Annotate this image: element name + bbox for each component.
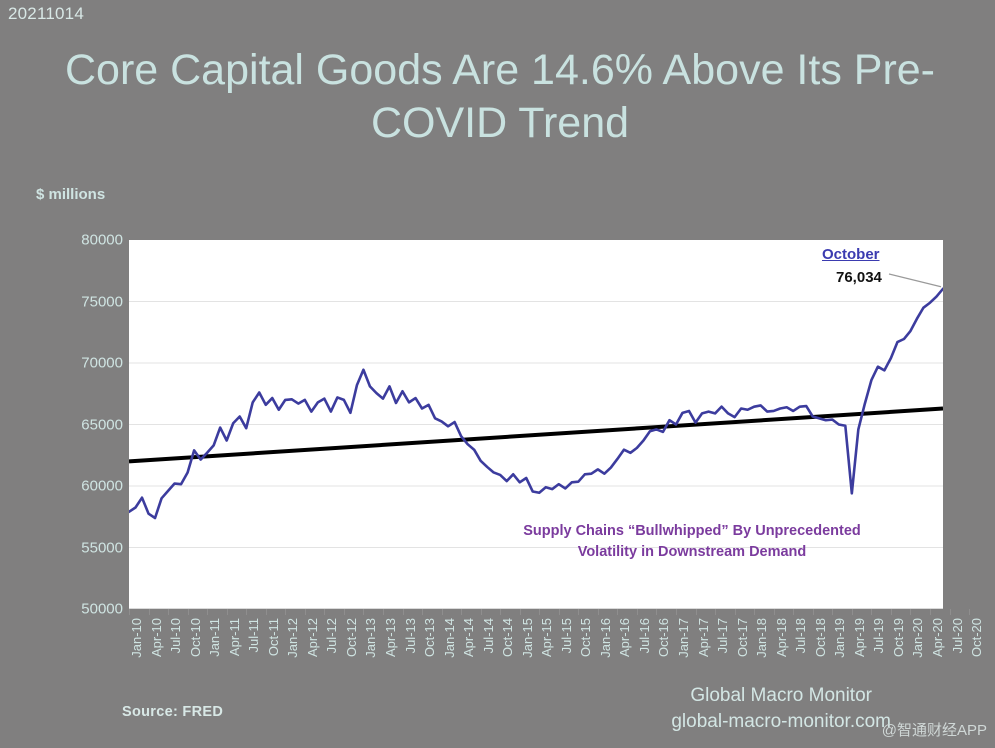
x-axis-tick-label: Jul-14 [481, 618, 496, 653]
y-axis-tick: 60000 [53, 478, 123, 495]
x-axis-tick-label: Jan-18 [754, 618, 769, 658]
x-axis-tick-mark [656, 609, 657, 615]
x-axis-tick-mark [188, 609, 189, 615]
x-axis-tick-mark [617, 609, 618, 615]
x-axis-tick-label: Apr-18 [774, 618, 789, 657]
y-axis-tick: 75000 [53, 293, 123, 310]
x-axis-tick-mark [832, 609, 833, 615]
x-axis-tick-label: Oct-12 [344, 618, 359, 657]
x-axis-tick-label: Jul-13 [403, 618, 418, 653]
x-axis-tick-label: Oct-13 [422, 618, 437, 657]
x-axis-tick-mark [305, 609, 306, 615]
annotation-value: 76,034 [836, 269, 882, 286]
x-axis-tick-label: Jul-18 [793, 618, 808, 653]
x-axis-tick-label: Oct-11 [266, 618, 281, 656]
x-axis-tick-mark [422, 609, 423, 615]
x-axis-tick-mark [813, 609, 814, 615]
x-axis-tick-mark [891, 609, 892, 615]
y-axis-tick: 55000 [53, 539, 123, 556]
x-axis-tick-mark [793, 609, 794, 615]
x-axis-tick-label: Jan-12 [285, 618, 300, 658]
x-axis-tick-mark [696, 609, 697, 615]
x-axis-tick-mark [285, 609, 286, 615]
x-axis-tick-label: Apr-15 [539, 618, 554, 657]
y-axis-tick: 65000 [53, 416, 123, 433]
x-axis-tick-mark [266, 609, 267, 615]
x-axis-tick-label: Oct-18 [813, 618, 828, 657]
x-axis-tick-mark [383, 609, 384, 615]
x-axis-tick-mark [578, 609, 579, 615]
x-axis-tick-mark [559, 609, 560, 615]
x-axis-tick-mark [207, 609, 208, 615]
brand-name: Global Macro Monitor [671, 683, 891, 709]
x-axis-tick-mark [442, 609, 443, 615]
x-axis-tick-mark [871, 609, 872, 615]
x-axis-tick-mark [227, 609, 228, 615]
x-axis-tick-label: Jan-16 [598, 618, 613, 658]
x-axis-tick-label: Oct-16 [656, 618, 671, 657]
y-axis-tick: 80000 [53, 232, 123, 249]
x-axis-tick-label: Apr-16 [617, 618, 632, 657]
x-axis-tick-label: Apr-20 [930, 618, 945, 657]
x-axis-tick-mark [149, 609, 150, 615]
x-axis-tick-label: Apr-19 [852, 618, 867, 657]
x-axis-tick-label: Jan-10 [129, 618, 144, 658]
x-axis-tick-label: Oct-15 [578, 618, 593, 657]
x-axis-tick-mark [950, 609, 951, 615]
x-axis-tick-mark [168, 609, 169, 615]
x-axis-tick-label: Oct-14 [500, 618, 515, 657]
trend-line [129, 409, 943, 462]
x-axis-tick-mark [754, 609, 755, 615]
y-axis-ticks: 80000750007000065000600005500050000 [48, 0, 123, 748]
x-axis-tick-mark [461, 609, 462, 615]
x-axis-tick-label: Jan-15 [520, 618, 535, 658]
chart-container: 80000750007000065000600005500050000 Jan-… [0, 0, 995, 748]
x-axis-tick-mark [910, 609, 911, 615]
x-axis-tick-mark [246, 609, 247, 615]
x-axis-tick-label: Apr-13 [383, 618, 398, 657]
watermark: @智通财经APP [882, 719, 987, 740]
x-axis-tick-label: Jan-13 [363, 618, 378, 658]
x-axis-tick-label: Jul-17 [715, 618, 730, 653]
x-axis-tick-label: Jan-14 [442, 618, 457, 658]
x-axis-tick-mark [598, 609, 599, 615]
x-axis-tick-label: Oct-19 [891, 618, 906, 657]
x-axis-tick-label: Jan-17 [676, 618, 691, 658]
callout-text: Supply Chains “Bullwhipped” By Unprecede… [492, 521, 892, 562]
x-axis-tick-label: Jul-19 [871, 618, 886, 653]
x-axis-tick-label: Jul-10 [168, 618, 183, 653]
x-axis-tick-label: Apr-12 [305, 618, 320, 657]
x-axis-tick-label: Jan-11 [207, 618, 222, 657]
x-axis-tick-label: Jul-20 [950, 618, 965, 653]
x-axis-tick-mark [735, 609, 736, 615]
x-axis-tick-label: Oct-10 [188, 618, 203, 657]
brand-footer: Global Macro Monitor global-macro-monito… [671, 683, 891, 734]
x-axis-tick-label: Apr-10 [149, 618, 164, 657]
x-axis-tick-mark [363, 609, 364, 615]
x-axis-tick-mark [500, 609, 501, 615]
x-axis-tick-label: Jul-16 [637, 618, 652, 653]
y-axis-tick: 50000 [53, 601, 123, 618]
x-axis-tick-label: Oct-17 [735, 618, 750, 657]
x-axis-tick-label: Apr-11 [227, 618, 242, 656]
x-axis-tick-label: Oct-20 [969, 618, 984, 657]
x-axis-tick-label: Apr-17 [696, 618, 711, 657]
x-axis-tick-label: Jul-12 [324, 618, 339, 653]
x-axis-tick-label: Jan-20 [910, 618, 925, 658]
x-axis-tick-mark [129, 609, 130, 615]
x-axis-tick-mark [969, 609, 970, 615]
annotation-label: October [822, 246, 880, 263]
x-axis-tick-mark [852, 609, 853, 615]
x-axis-tick-mark [520, 609, 521, 615]
x-axis-tick-mark [481, 609, 482, 615]
annotation-leader-line [889, 274, 941, 287]
x-axis-tick-label: Apr-14 [461, 618, 476, 657]
x-axis-tick-mark [344, 609, 345, 615]
brand-url: global-macro-monitor.com [671, 709, 891, 735]
x-axis-tick-label: Jan-19 [832, 618, 847, 658]
x-axis-tick-mark [930, 609, 931, 615]
x-axis-tick-label: Jul-15 [559, 618, 574, 653]
x-axis-tick-mark [715, 609, 716, 615]
x-axis-tick-mark [403, 609, 404, 615]
x-axis-tick-mark [774, 609, 775, 615]
x-axis-tick-mark [676, 609, 677, 615]
x-axis-tick-mark [637, 609, 638, 615]
data-series-line [129, 289, 943, 518]
x-axis-tick-mark [539, 609, 540, 615]
x-axis-tick-label: Jul-11 [246, 618, 261, 652]
x-axis-tick-mark [324, 609, 325, 615]
y-axis-tick: 70000 [53, 355, 123, 372]
source-label: Source: FRED [122, 704, 223, 720]
